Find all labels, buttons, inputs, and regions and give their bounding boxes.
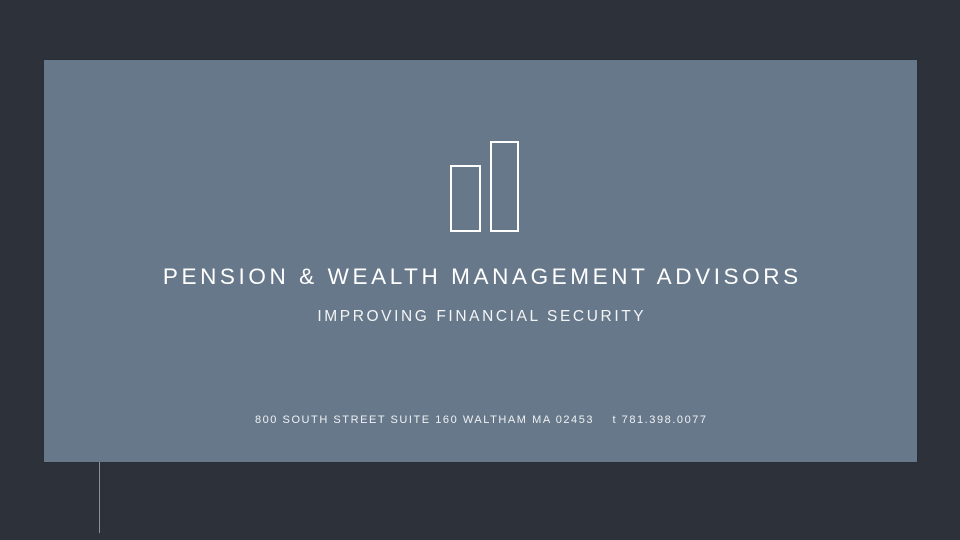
slide-canvas: PENSION & WEALTH MANAGEMENT ADVISORS IMP… (0, 0, 960, 540)
logo-bar-tall-icon (490, 141, 519, 232)
bar-chart-logo-icon (450, 141, 520, 233)
tagline: IMPROVING FINANCIAL SECURITY (44, 306, 917, 328)
company-name: PENSION & WEALTH MANAGEMENT ADVISORS (44, 263, 917, 291)
address-contact-line: 800 SOUTH STREET SUITE 160 WALTHAM MA 02… (44, 412, 917, 428)
logo-bar-short-icon (450, 165, 481, 232)
vertical-accent-rule (99, 462, 100, 533)
title-slide-panel: PENSION & WEALTH MANAGEMENT ADVISORS IMP… (44, 60, 917, 462)
